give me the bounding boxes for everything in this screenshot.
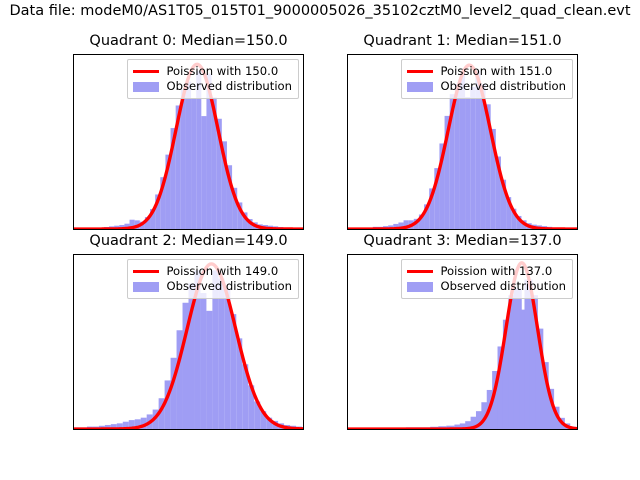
legend-label-poisson: Poission with 149.0 (166, 266, 278, 278)
quadrant-3-ytick-mark (347, 374, 348, 375)
quadrant-3-title: Quadrant 3: Median=137.0 (347, 233, 578, 249)
quadrant-0-ytick-mark (73, 130, 74, 131)
legend-label-poisson: Poission with 150.0 (166, 66, 278, 78)
quadrant-2-ytick-mark (73, 349, 74, 350)
legend-label-observed: Observed distribution (166, 81, 292, 93)
quadrant-1-legend: Poission with 151.0Observed distribution (401, 59, 573, 99)
legend-item-observed: Observed distribution (407, 79, 566, 94)
legend-item-poisson: Poission with 137.0 (407, 264, 566, 279)
quadrant-1-xtick-mark (468, 229, 469, 230)
quadrant-2-ytick-mark (73, 267, 74, 268)
subplot-quadrant-1: Quadrant 1: Median=151.00501001502001001… (347, 54, 578, 230)
quadrant-1-ytick-mark (347, 157, 348, 158)
quadrant-0-ytick-mark (73, 163, 74, 164)
quadrant-1-xtick-mark (382, 229, 383, 230)
subplot-quadrant-3: Quadrant 3: Median=137.00100200300501001… (347, 254, 578, 430)
legend-patch-icon (407, 82, 433, 92)
legend-label-poisson: Poission with 137.0 (440, 266, 552, 278)
quadrant-3-xtick-mark (540, 429, 541, 430)
legend-patch-icon (407, 282, 433, 292)
legend-label-poisson: Poission with 151.0 (440, 66, 552, 78)
quadrant-0-ytick-mark (73, 96, 74, 97)
legend-item-observed: Observed distribution (133, 279, 292, 294)
legend-label-observed: Observed distribution (440, 81, 566, 93)
legend-label-observed: Observed distribution (166, 281, 292, 293)
matplotlib-figure: Data file: modeM0/AS1T05_015T01_90000050… (0, 0, 640, 480)
quadrant-1-ytick-mark (347, 84, 348, 85)
legend-item-observed: Observed distribution (133, 79, 292, 94)
quadrant-1-xtick-mark (554, 229, 555, 230)
quadrant-2-xtick-mark (114, 429, 115, 430)
quadrant-2-xtick-mark (264, 429, 265, 430)
quadrant-0-title: Quadrant 0: Median=150.0 (73, 33, 304, 49)
legend-line-icon (133, 270, 159, 274)
quadrant-0-ytick-mark (73, 63, 74, 64)
quadrant-2-xtick-mark (214, 429, 215, 430)
legend-line-icon (133, 70, 159, 74)
quadrant-2-axes: 050100150200100125150175Poission with 14… (73, 254, 304, 430)
legend-item-poisson: Poission with 151.0 (407, 64, 566, 79)
quadrant-1-ytick-mark (347, 194, 348, 195)
quadrant-3-legend: Poission with 137.0Observed distribution (401, 259, 573, 299)
quadrant-0-ytick-mark (73, 197, 74, 198)
quadrant-3-ytick-mark (347, 261, 348, 262)
figure-suptitle: Data file: modeM0/AS1T05_015T01_90000050… (9, 3, 630, 19)
quadrant-3-axes: 010020030050100150Poission with 137.0Obs… (347, 254, 578, 430)
legend-label-observed: Observed distribution (440, 281, 566, 293)
quadrant-3-ytick-mark (347, 318, 348, 319)
quadrant-2-xtick-mark (164, 429, 165, 430)
quadrant-0-axes: 050100150200250100150200Poission with 15… (73, 54, 304, 230)
quadrant-2-ytick-mark (73, 390, 74, 391)
subplot-quadrant-0: Quadrant 0: Median=150.00501001502002501… (73, 54, 304, 230)
quadrant-0-xtick-mark (198, 229, 199, 230)
legend-item-observed: Observed distribution (407, 279, 566, 294)
quadrant-0-xtick-mark (284, 229, 285, 230)
legend-line-icon (407, 70, 433, 74)
quadrant-2-legend: Poission with 149.0Observed distribution (127, 259, 299, 299)
quadrant-3-xtick-mark (405, 429, 406, 430)
quadrant-1-axes: 050100150200100150200Poission with 151.0… (347, 54, 578, 230)
quadrant-1-title: Quadrant 1: Median=151.0 (347, 33, 578, 49)
subplot-quadrant-2: Quadrant 2: Median=149.00501001502001001… (73, 254, 304, 430)
quadrant-0-xtick-mark (111, 229, 112, 230)
quadrant-2-ytick-mark (73, 308, 74, 309)
legend-line-icon (407, 270, 433, 274)
legend-patch-icon (133, 282, 159, 292)
legend-item-poisson: Poission with 149.0 (133, 264, 292, 279)
quadrant-3-xtick-mark (472, 429, 473, 430)
quadrant-2-title: Quadrant 2: Median=149.0 (73, 233, 304, 249)
quadrant-0-legend: Poission with 150.0Observed distribution (127, 59, 299, 99)
quadrant-1-ytick-mark (347, 120, 348, 121)
legend-item-poisson: Poission with 150.0 (133, 64, 292, 79)
legend-patch-icon (133, 82, 159, 92)
